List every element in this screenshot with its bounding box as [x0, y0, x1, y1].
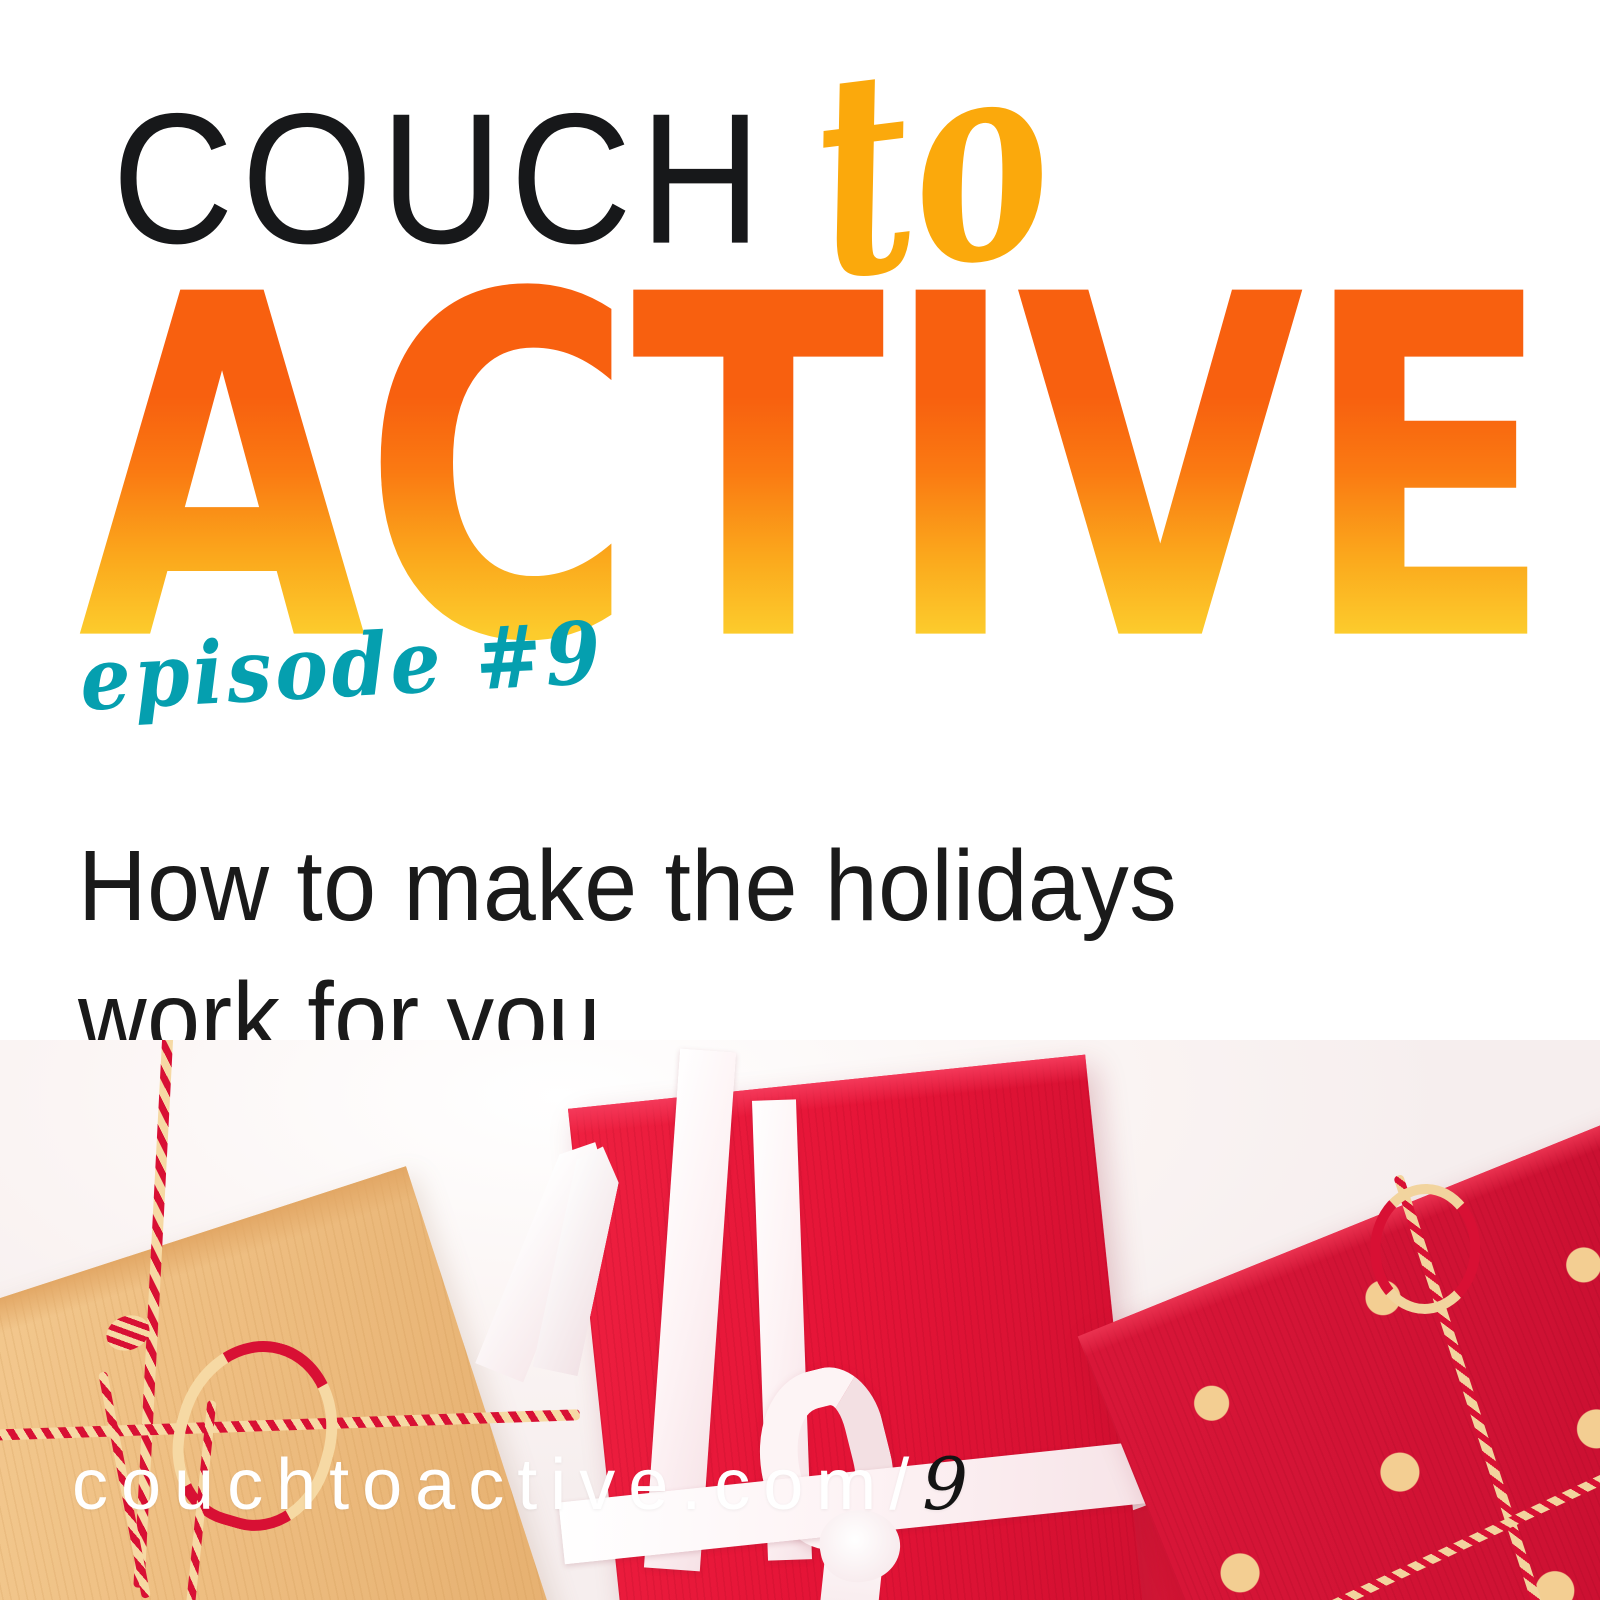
podcast-cover-art: COUCH to ACTIVE episode #9 How to make t…: [0, 0, 1600, 1600]
website-url[interactable]: couchtoactive.com/9: [72, 1448, 981, 1521]
website-url-episode-number: 9: [922, 1442, 981, 1526]
headline-line-1: How to make the holidays: [78, 820, 1332, 952]
polka-gift-twine-horizontal: [1190, 1379, 1600, 1600]
episode-label: episode #9: [78, 611, 606, 724]
website-url-text: couchtoactive.com/: [72, 1445, 922, 1525]
brand-logo: COUCH to ACTIVE episode #9: [0, 0, 1600, 660]
